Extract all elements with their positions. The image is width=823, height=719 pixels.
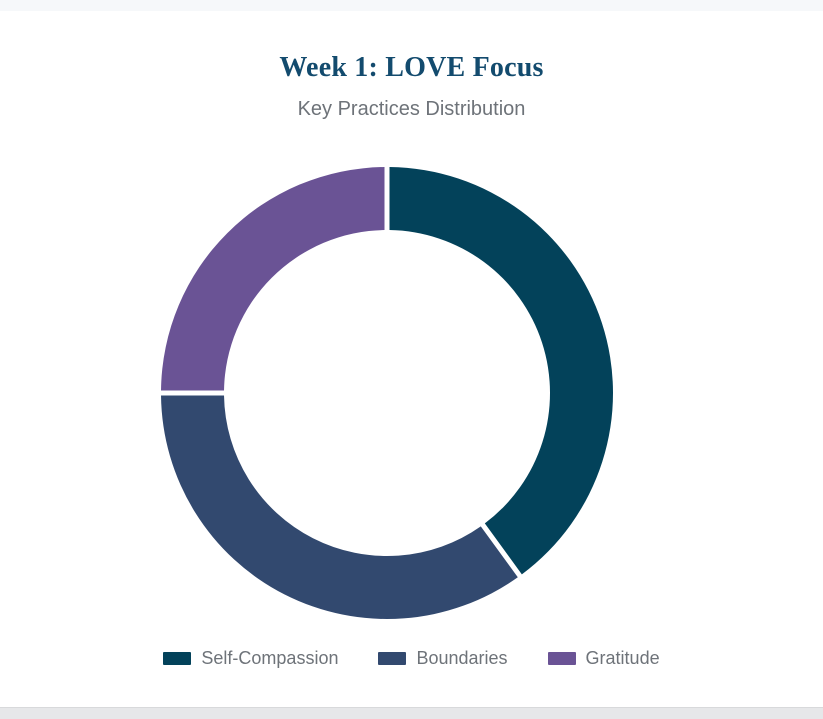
legend-item-gratitude[interactable]: Gratitude — [548, 647, 660, 669]
donut-segment-self-compassion[interactable]: Self-Compassion: 40% — [389, 167, 613, 574]
legend-label-gratitude: Gratitude — [586, 647, 660, 669]
page-top-band — [0, 0, 823, 11]
donut-segment-gratitude[interactable]: Gratitude: 25% — [161, 167, 384, 390]
page-bottom-band — [0, 707, 823, 719]
legend-label-self-compassion: Self-Compassion — [201, 647, 338, 669]
chart-card: Week 1: LOVE Focus Key Practices Distrib… — [0, 11, 823, 707]
donut-chart-svg: Self-Compassion: 40%Boundaries: 35%Grati… — [148, 154, 626, 632]
legend-item-self-compassion[interactable]: Self-Compassion — [163, 647, 338, 669]
donut-chart: Self-Compassion: 40%Boundaries: 35%Grati… — [148, 154, 626, 632]
legend-label-boundaries: Boundaries — [416, 647, 507, 669]
donut-segment-boundaries[interactable]: Boundaries: 35% — [161, 395, 518, 619]
legend-swatch-gratitude — [548, 652, 576, 665]
donut-segment-group: Self-Compassion: 40%Boundaries: 35%Grati… — [161, 167, 613, 619]
page-title: Week 1: LOVE Focus — [0, 51, 823, 85]
chart-subtitle: Key Practices Distribution — [0, 96, 823, 122]
legend-swatch-boundaries — [378, 652, 406, 665]
chart-legend: Self-CompassionBoundariesGratitude — [0, 647, 823, 669]
legend-item-boundaries[interactable]: Boundaries — [378, 647, 507, 669]
legend-swatch-self-compassion — [163, 652, 191, 665]
